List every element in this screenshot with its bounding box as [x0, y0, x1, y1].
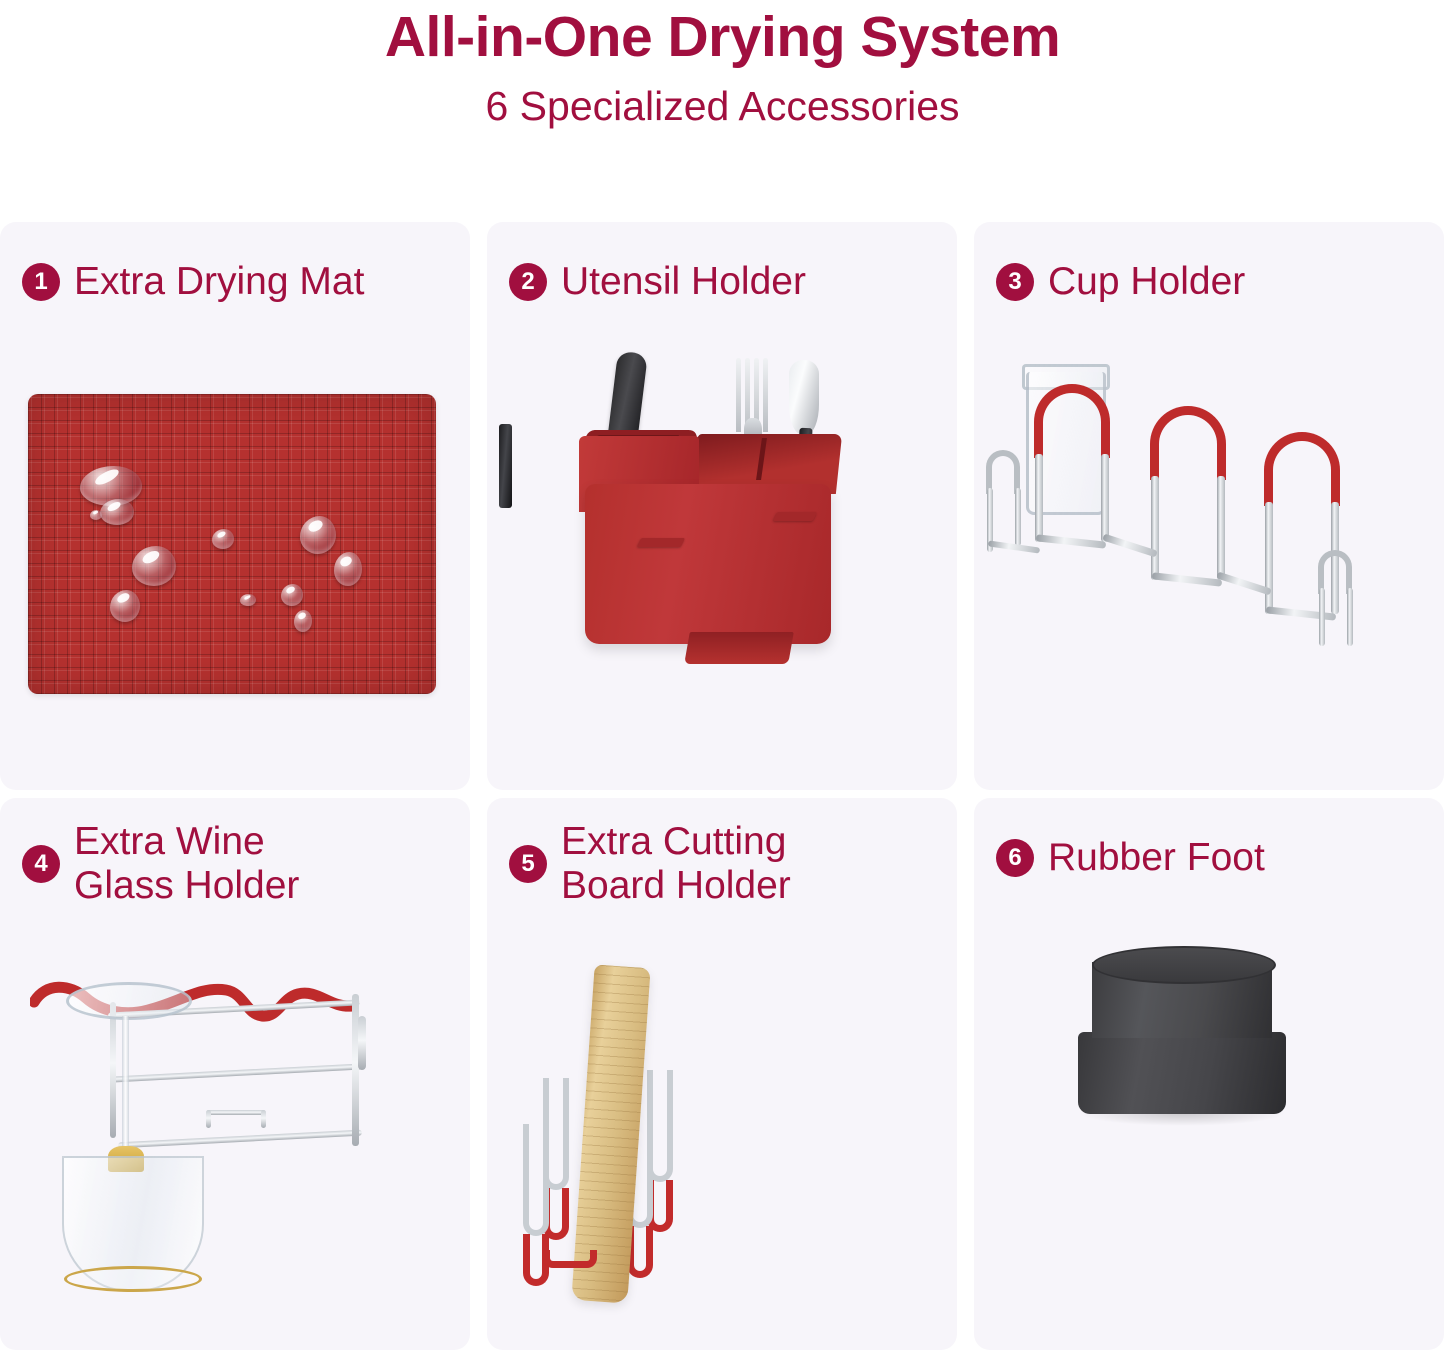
- accessory-card-utensil-holder[interactable]: 2 Utensil Holder: [487, 222, 957, 790]
- product-image-drying-mat: [0, 342, 470, 790]
- badge-number: 4: [22, 845, 60, 883]
- water-droplet: [281, 584, 303, 606]
- accessory-card-wine-glass-holder[interactable]: 4 Extra Wine Glass Holder: [0, 798, 470, 1350]
- card-header: 5 Extra Cutting Board Holder: [487, 798, 957, 907]
- badge-number: 3: [996, 263, 1034, 301]
- card-title: Utensil Holder: [561, 260, 806, 304]
- wine-glass-foot-icon: [66, 982, 192, 1020]
- cup-arch-red: [1034, 384, 1110, 458]
- accessory-card-cutting-board-holder[interactable]: 5 Extra Cutting Board Holder: [487, 798, 957, 1350]
- card-title: Extra Drying Mat: [74, 260, 364, 304]
- spreader-blade-icon: [789, 360, 819, 434]
- mount-tab: [773, 512, 817, 521]
- water-droplet: [212, 529, 234, 549]
- end-hook-leg: [1319, 588, 1325, 646]
- card-header: 3 Cup Holder: [974, 222, 1444, 304]
- accessory-card-drying-mat[interactable]: 1 Extra Drying Mat: [0, 222, 470, 790]
- card-header: 2 Utensil Holder: [487, 222, 957, 304]
- rubber-foot-rim-icon: [1092, 946, 1276, 984]
- cup-arch-leg: [1101, 454, 1109, 542]
- product-image-wine-glass-holder: [0, 958, 470, 1350]
- frame-clip-leg: [206, 1110, 211, 1128]
- water-droplet: [294, 610, 312, 632]
- product-image-cup-holder: [974, 342, 1444, 790]
- cup-base-rail: [1102, 534, 1157, 558]
- badge-number: 6: [996, 839, 1034, 877]
- card-title: Cup Holder: [1048, 260, 1245, 304]
- cup-arch-leg: [1217, 476, 1225, 580]
- water-droplet: [90, 510, 102, 520]
- cup-arch-leg: [1265, 502, 1273, 614]
- water-droplet: [334, 552, 362, 586]
- frame-bottom-bar: [118, 1130, 362, 1149]
- wine-glass-stem-icon: [122, 1016, 129, 1166]
- cup-arch-red: [1264, 432, 1340, 506]
- cup-base-rail: [1216, 572, 1271, 596]
- accessory-card-rubber-foot[interactable]: 6 Rubber Foot: [974, 798, 1444, 1350]
- rubber-foot-lower-icon: [1078, 1032, 1286, 1114]
- card-header: 6 Rubber Foot: [974, 798, 1444, 880]
- card-header: 4 Extra Wine Glass Holder: [0, 798, 470, 907]
- board-clip-base-red: [543, 1250, 597, 1268]
- board-clip-front-inner: [523, 1124, 549, 1236]
- water-droplet: [132, 546, 176, 586]
- utensil-holder-body: [585, 484, 831, 644]
- badge-number: 2: [509, 263, 547, 301]
- badge-number: 1: [22, 263, 60, 301]
- end-hook-leg: [1347, 588, 1353, 646]
- product-image-cutting-board-holder: [487, 958, 957, 1350]
- water-droplet: [100, 499, 134, 525]
- accessory-card-cup-holder[interactable]: 3 Cup Holder: [974, 222, 1444, 790]
- card-header: 1 Extra Drying Mat: [0, 222, 470, 304]
- page-header: All-in-One Drying System 6 Specialized A…: [0, 0, 1445, 129]
- cup-base-rail: [1266, 606, 1336, 620]
- cup-arch-leg: [1151, 476, 1159, 580]
- product-image-utensil-holder: [487, 342, 957, 790]
- card-title: Rubber Foot: [1048, 836, 1265, 880]
- fork-handle-icon: [499, 424, 512, 508]
- frame-clip: [206, 1110, 266, 1115]
- cup-arch-leg: [1035, 454, 1043, 542]
- cup-base-rail: [1152, 572, 1222, 586]
- drying-mat-icon: [28, 394, 436, 694]
- frame-left-post: [110, 1002, 116, 1138]
- badge-number: 5: [509, 845, 547, 883]
- card-title: Extra Wine Glass Holder: [74, 820, 299, 907]
- drip-tray: [684, 632, 794, 664]
- cup-arch-red: [1150, 406, 1226, 480]
- wine-glass-gold-rim-icon: [64, 1266, 202, 1292]
- end-hook-leg: [1015, 488, 1021, 546]
- water-droplet: [240, 594, 256, 606]
- cup-base-rail: [1036, 534, 1106, 548]
- water-droplet: [110, 590, 140, 622]
- water-droplet: [300, 516, 336, 554]
- frame-clip-leg: [261, 1110, 266, 1128]
- accessories-grid: 1 Extra Drying Mat 2 Utensil Holder: [0, 222, 1445, 1350]
- product-image-rubber-foot: [974, 918, 1444, 1350]
- page-title: All-in-One Drying System: [0, 8, 1445, 68]
- page-subtitle: 6 Specialized Accessories: [0, 68, 1445, 129]
- mount-tab: [637, 538, 685, 547]
- frame-hook: [358, 1016, 366, 1070]
- card-title: Extra Cutting Board Holder: [561, 820, 791, 907]
- frame-mid-bar: [112, 1063, 362, 1082]
- end-hook-rail: [988, 540, 1040, 553]
